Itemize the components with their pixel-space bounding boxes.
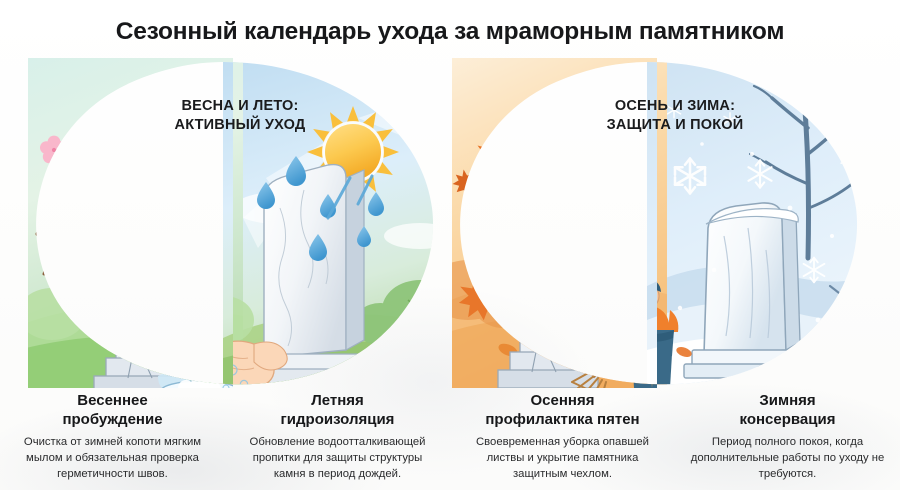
page-title: Сезонный календарь ухода за мраморным па… — [0, 18, 900, 46]
caption-description: Обновление водоотталкивающей пропитки дл… — [239, 434, 436, 482]
caption-heading: Весеннее пробуждение — [14, 392, 211, 429]
caption-description: Период полного покоя, когда дополнительн… — [689, 434, 886, 482]
caption-spring: Весеннее пробуждение Очистка от зимней к… — [0, 392, 225, 490]
brush-icon — [165, 340, 220, 375]
season-header-autumn-winter: ОСЕНЬ И ЗИМА: ЗАЩИТА И ПОКОЙ — [585, 97, 765, 134]
season-header-spring-summer: ВЕСНА И ЛЕТО: АКТИВНЫЙ УХОД — [152, 97, 328, 134]
caption-heading: Летняя гидроизоляция — [239, 392, 436, 429]
captions-row: Весеннее пробуждение Очистка от зимней к… — [0, 392, 900, 490]
caption-summer: Летняя гидроизоляция Обновление водоотта… — [225, 392, 450, 490]
caption-winter: Зимняя консервация Период полного покоя,… — [675, 392, 900, 490]
caption-description: Своевременная уборка опавшей листвы и ук… — [464, 434, 661, 482]
caption-heading: Осенняя профилактика пятен — [464, 392, 661, 429]
caption-autumn: Осенняя профилактика пятен Своевременная… — [450, 392, 675, 490]
caption-heading: Зимняя консервация — [689, 392, 886, 429]
infographic-canvas: Сезонный календарь ухода за мраморным па… — [0, 0, 900, 490]
caption-description: Очистка от зимней копоти мягким мылом и … — [14, 434, 211, 482]
